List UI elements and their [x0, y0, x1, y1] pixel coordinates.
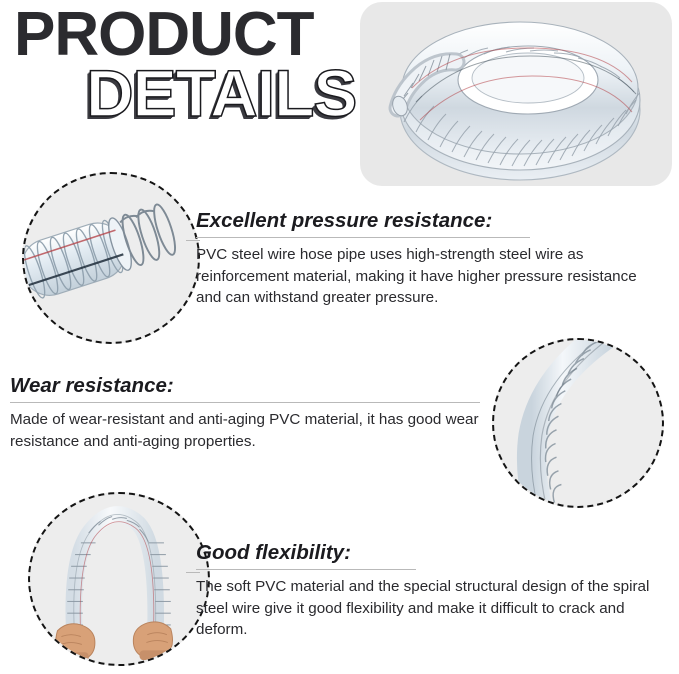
- hands-bending-hose-illustration: [30, 494, 208, 664]
- inset-pressure-resistance: [22, 172, 200, 344]
- inset-wear-resistance: [492, 338, 664, 508]
- coiled-hose-illustration: [360, 2, 672, 186]
- inset-good-flexibility: [28, 492, 210, 666]
- product-details-infographic: PRODUCT DETAILS: [0, 0, 679, 674]
- heading-rule: [196, 237, 530, 238]
- feature-good-flexibility: Good flexibility: The soft PVC material …: [196, 540, 666, 641]
- feature-heading: Good flexibility:: [196, 540, 666, 566]
- feature-heading: Excellent pressure resistance:: [196, 208, 666, 234]
- feature-wear-resistance: Wear resistance: Made of wear-resistant …: [10, 373, 480, 452]
- hose-end-spiral-wire-illustration: [24, 174, 198, 342]
- feature-pressure-resistance: Excellent pressure resistance: PVC steel…: [196, 208, 666, 309]
- right-hand: [133, 622, 172, 660]
- title-line-details: DETAILS: [86, 60, 356, 126]
- curved-hose-illustration: [494, 340, 662, 506]
- feature-body: PVC steel wire hose pipe uses high-stren…: [196, 244, 666, 309]
- feature-body: Made of wear-resistant and anti-aging PV…: [10, 409, 480, 452]
- heading-rule: [196, 569, 416, 570]
- feature-heading: Wear resistance:: [10, 373, 480, 399]
- page-title: PRODUCT DETAILS: [14, 2, 364, 142]
- heading-rule: [10, 402, 480, 403]
- feature-body: The soft PVC material and the special st…: [196, 576, 666, 641]
- left-hand: [56, 624, 95, 662]
- hero-product-image: [360, 2, 672, 186]
